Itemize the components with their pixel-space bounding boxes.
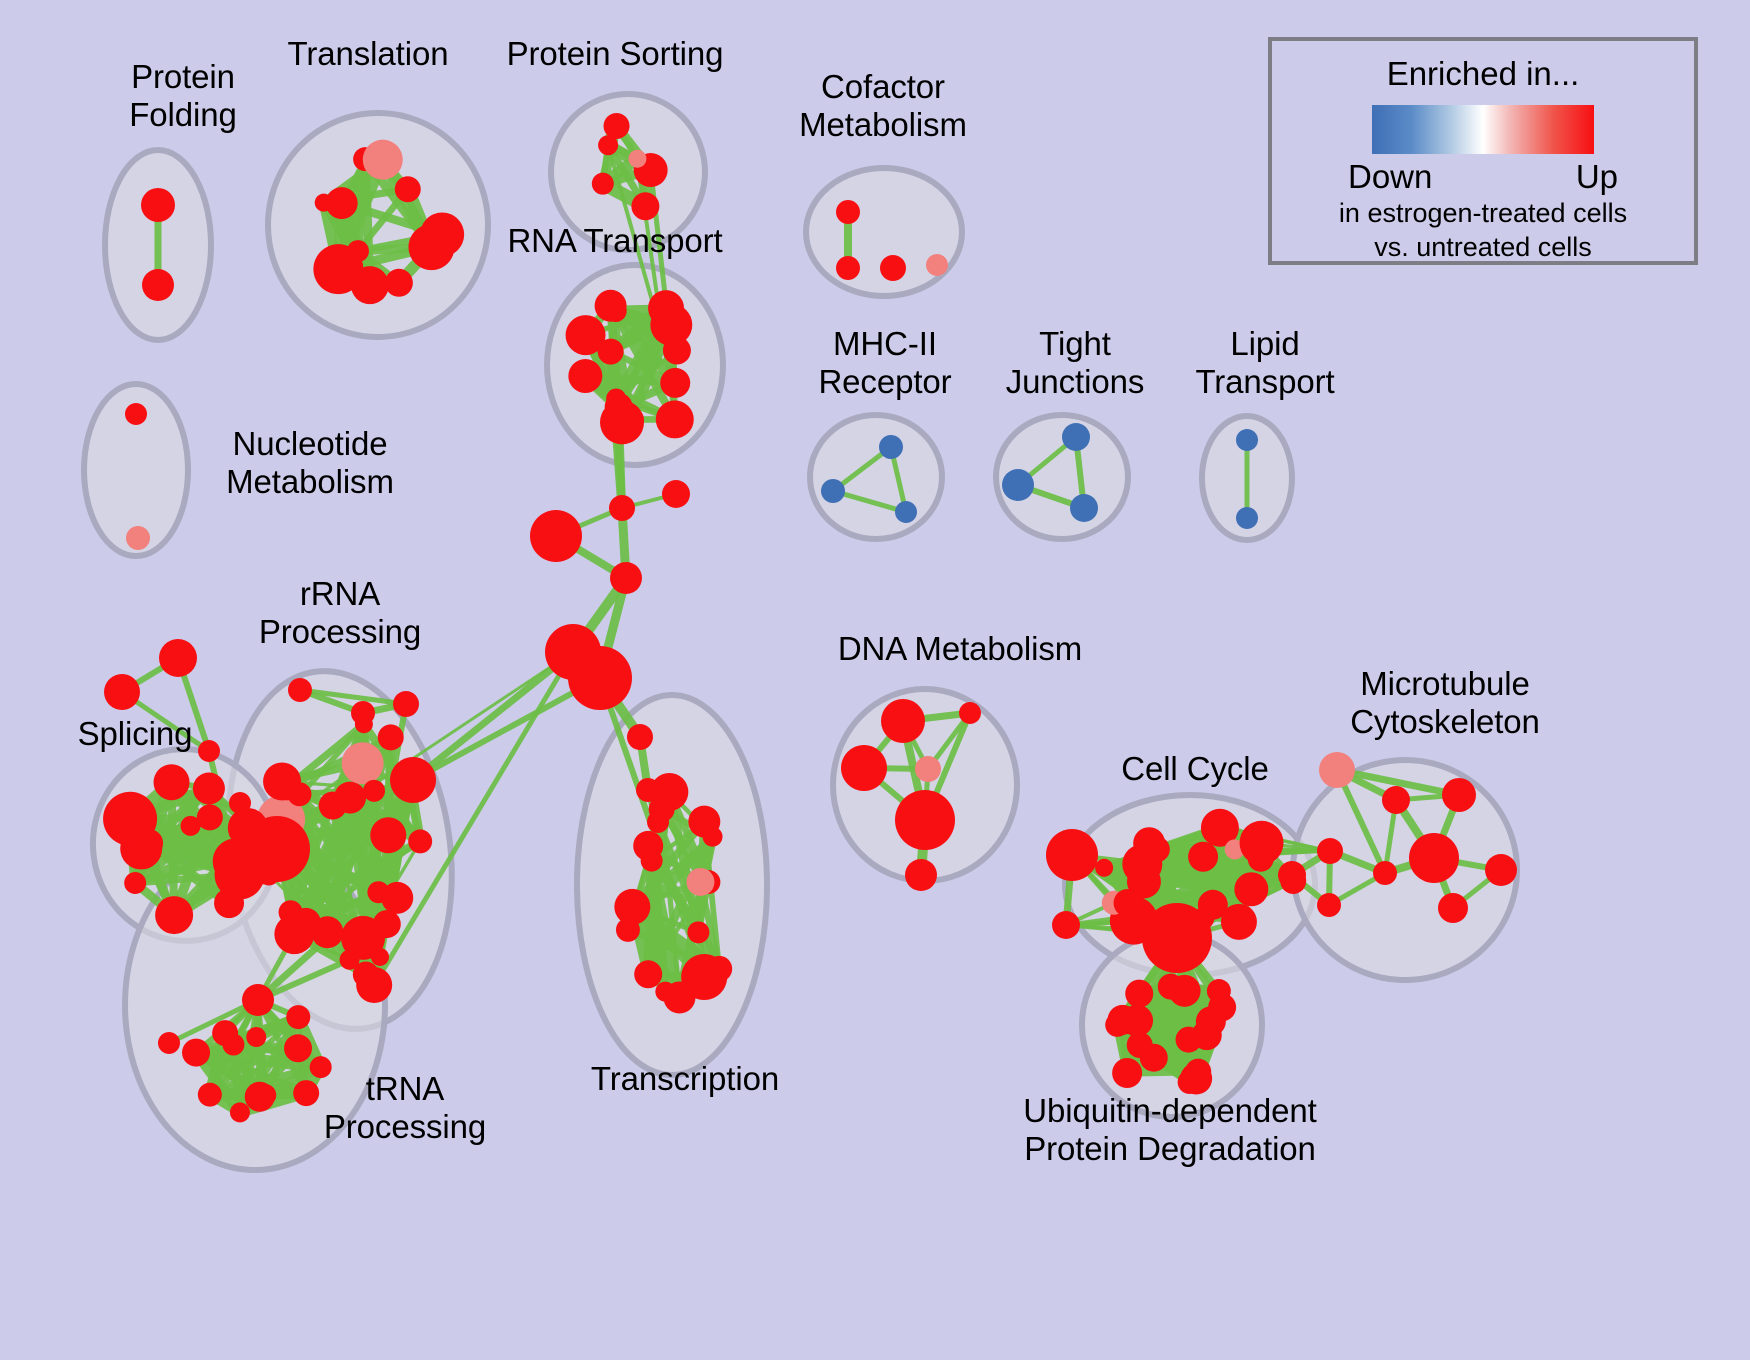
network-node[interactable] — [408, 224, 454, 270]
network-node[interactable] — [351, 701, 375, 725]
network-node[interactable] — [881, 699, 925, 743]
network-node[interactable] — [124, 872, 146, 894]
network-node[interactable] — [568, 646, 632, 710]
network-node[interactable] — [895, 790, 955, 850]
network-node[interactable] — [1373, 861, 1397, 885]
network-node[interactable] — [1114, 889, 1142, 917]
network-node[interactable] — [604, 113, 630, 139]
network-node[interactable] — [363, 140, 403, 180]
network-node[interactable] — [627, 724, 653, 750]
network-node[interactable] — [198, 740, 220, 762]
network-node[interactable] — [663, 337, 691, 365]
network-node[interactable] — [836, 256, 860, 280]
network-node[interactable] — [647, 811, 669, 833]
network-node[interactable] — [1002, 469, 1034, 501]
network-node[interactable] — [880, 255, 906, 281]
network-node[interactable] — [879, 435, 903, 459]
network-node[interactable] — [1169, 975, 1201, 1007]
network-node[interactable] — [1095, 859, 1113, 877]
network-node[interactable] — [193, 772, 225, 804]
network-node[interactable] — [340, 950, 360, 970]
network-node[interactable] — [628, 150, 646, 168]
network-node[interactable] — [291, 908, 321, 938]
legend-box: Enriched in... Down Up in estrogen-treat… — [1268, 37, 1698, 265]
network-node[interactable] — [1442, 778, 1476, 812]
network-node[interactable] — [1178, 1070, 1202, 1094]
network-node[interactable] — [1409, 833, 1459, 883]
network-node[interactable] — [1317, 838, 1343, 864]
network-node[interactable] — [378, 724, 404, 750]
network-node[interactable] — [1112, 1058, 1142, 1088]
network-node[interactable] — [636, 778, 660, 802]
network-node[interactable] — [841, 745, 887, 791]
network-node[interactable] — [688, 806, 720, 838]
network-node[interactable] — [821, 479, 845, 503]
network-node[interactable] — [288, 678, 312, 702]
network-node[interactable] — [244, 816, 310, 882]
network-node[interactable] — [686, 868, 714, 896]
network-node[interactable] — [135, 829, 163, 857]
network-node[interactable] — [660, 368, 690, 398]
network-node[interactable] — [1438, 893, 1468, 923]
network-node[interactable] — [245, 1082, 275, 1112]
network-edge — [413, 652, 573, 780]
network-node[interactable] — [126, 526, 150, 550]
network-node[interactable] — [315, 194, 333, 212]
network-node[interactable] — [198, 1083, 222, 1107]
network-node[interactable] — [154, 764, 190, 800]
network-node[interactable] — [609, 495, 635, 521]
network-node[interactable] — [1317, 893, 1341, 917]
cluster-halo-mhc-ii-receptor — [810, 415, 942, 539]
network-node[interactable] — [142, 269, 174, 301]
network-node[interactable] — [393, 691, 419, 717]
network-node[interactable] — [158, 1032, 180, 1054]
network-node[interactable] — [155, 896, 193, 934]
network-node[interactable] — [222, 841, 246, 865]
network-node[interactable] — [1070, 494, 1098, 522]
network-node[interactable] — [381, 882, 413, 914]
legend-up-label: Up — [1576, 158, 1618, 196]
network-node[interactable] — [1052, 911, 1080, 939]
network-node[interactable] — [1125, 980, 1153, 1008]
network-node[interactable] — [1212, 815, 1236, 839]
legend-subtitle-line1: in estrogen-treated cells — [1272, 198, 1694, 230]
network-node[interactable] — [212, 1020, 238, 1046]
network-node[interactable] — [662, 480, 690, 508]
network-node[interactable] — [1236, 429, 1258, 451]
network-node[interactable] — [566, 315, 606, 355]
network-node[interactable] — [568, 359, 602, 393]
network-node[interactable] — [530, 510, 582, 562]
network-node[interactable] — [284, 1034, 312, 1062]
network-node[interactable] — [1234, 872, 1268, 906]
network-node[interactable] — [197, 804, 223, 830]
network-node[interactable] — [592, 173, 614, 195]
network-node[interactable] — [313, 244, 363, 294]
network-node[interactable] — [595, 290, 627, 322]
network-node[interactable] — [286, 1005, 310, 1029]
network-node[interactable] — [293, 1080, 319, 1106]
network-node[interactable] — [1236, 507, 1258, 529]
network-node[interactable] — [395, 176, 421, 202]
network-node[interactable] — [242, 984, 274, 1016]
network-node[interactable] — [246, 1027, 266, 1047]
network-node[interactable] — [1188, 842, 1218, 872]
network-node[interactable] — [915, 756, 941, 782]
network-node[interactable] — [895, 501, 917, 523]
network-node[interactable] — [610, 562, 642, 594]
network-node[interactable] — [1248, 846, 1274, 872]
network-node[interactable] — [385, 269, 413, 297]
network-node[interactable] — [141, 188, 175, 222]
network-node[interactable] — [606, 389, 626, 409]
network-node[interactable] — [104, 674, 140, 710]
network-node[interactable] — [408, 829, 432, 853]
network-node[interactable] — [230, 1102, 250, 1122]
network-node[interactable] — [229, 792, 251, 814]
network-node[interactable] — [1142, 903, 1212, 973]
network-node[interactable] — [310, 1056, 332, 1078]
network-node[interactable] — [390, 757, 436, 803]
network-node[interactable] — [1108, 1005, 1138, 1035]
network-node[interactable] — [905, 859, 937, 891]
network-node[interactable] — [1046, 829, 1098, 881]
network-node[interactable] — [926, 254, 948, 276]
network-node[interactable] — [363, 780, 385, 802]
legend-subtitle-line2: vs. untreated cells — [1272, 232, 1694, 264]
network-node[interactable] — [1319, 752, 1355, 788]
network-node[interactable] — [1062, 423, 1090, 451]
enrichment-map-figure: Protein FoldingTranslationProtein Sortin… — [0, 0, 1750, 1360]
network-node[interactable] — [287, 782, 311, 806]
network-node[interactable] — [634, 960, 662, 988]
network-node[interactable] — [1485, 854, 1517, 886]
network-node[interactable] — [125, 403, 147, 425]
network-node[interactable] — [342, 742, 384, 784]
network-node[interactable] — [334, 782, 366, 814]
network-node[interactable] — [1278, 861, 1306, 889]
network-node[interactable] — [1133, 827, 1165, 859]
network-node[interactable] — [1382, 786, 1410, 814]
network-node[interactable] — [641, 850, 663, 872]
network-node[interactable] — [959, 702, 981, 724]
network-node[interactable] — [836, 200, 860, 224]
legend-down-label: Down — [1348, 158, 1432, 196]
network-node[interactable] — [370, 817, 406, 853]
network-node[interactable] — [1196, 1006, 1226, 1036]
legend-color-gradient — [1372, 105, 1594, 154]
network-node[interactable] — [616, 918, 640, 942]
legend-title: Enriched in... — [1272, 55, 1694, 93]
network-node[interactable] — [656, 400, 694, 438]
network-node[interactable] — [687, 921, 709, 943]
network-node[interactable] — [214, 888, 244, 918]
network-node[interactable] — [159, 639, 197, 677]
network-node[interactable] — [655, 982, 675, 1002]
network-node[interactable] — [631, 192, 659, 220]
network-node[interactable] — [1176, 1027, 1202, 1053]
network-node[interactable] — [182, 1039, 210, 1067]
